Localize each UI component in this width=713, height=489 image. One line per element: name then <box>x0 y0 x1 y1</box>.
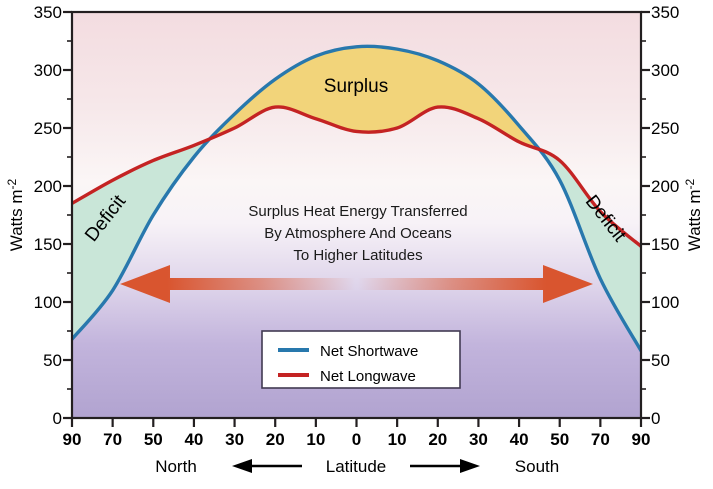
legend-label-net-shortwave: Net Shortwave <box>320 343 418 360</box>
legend: Net Shortwave Net Longwave <box>262 331 460 388</box>
ytick-label-right-200: 200 <box>651 177 679 196</box>
legend-label-net-longwave: Net Longwave <box>320 368 416 385</box>
y-axis-title-left: Watts m-2 <box>5 178 26 251</box>
y-axis-title-left-text: Watts m <box>7 189 26 251</box>
xtick-label: 70 <box>103 430 122 449</box>
annotation-line-3: To Higher Latitudes <box>293 247 422 264</box>
x-axis-tick-labels: 90705040302010010203040507090 <box>63 430 651 449</box>
xtick-label: 30 <box>225 430 244 449</box>
y-axis-title-left-exponent: -2 <box>5 178 19 189</box>
x-axis-label-row: North Latitude South <box>155 457 559 476</box>
xtick-label: 10 <box>306 430 325 449</box>
ytick-label-right-300: 300 <box>651 61 679 80</box>
arrow-left-small-icon <box>232 459 302 473</box>
xtick-label: 90 <box>63 430 82 449</box>
ytick-label-right-150: 150 <box>651 235 679 254</box>
ytick-label-200: 200 <box>34 177 62 196</box>
ytick-label-50: 50 <box>43 351 62 370</box>
ytick-label-100: 100 <box>34 293 62 312</box>
ytick-label-right-50: 50 <box>651 351 670 370</box>
xtick-label: 50 <box>144 430 163 449</box>
arrow-right-small-icon <box>410 459 480 473</box>
xtick-label: 20 <box>428 430 447 449</box>
ytick-label-0: 0 <box>53 409 62 428</box>
annotation-line-2: By Atmosphere And Oceans <box>264 225 452 242</box>
latitude-label: Latitude <box>326 457 387 476</box>
ytick-label-350: 350 <box>34 3 62 22</box>
y-axis-tick-labels-left: 350 300 250 200 150 100 50 0 <box>34 3 62 428</box>
xtick-label: 20 <box>266 430 285 449</box>
svg-text:Watts m-2: Watts m-2 <box>683 178 704 251</box>
north-label: North <box>155 457 197 476</box>
y-axis-title-right-text: Watts m <box>685 189 704 251</box>
annotation-line-1: Surplus Heat Energy Transferred <box>248 203 467 220</box>
ytick-label-right-250: 250 <box>651 119 679 138</box>
ytick-label-250: 250 <box>34 119 62 138</box>
south-label: South <box>515 457 559 476</box>
ytick-label-300: 300 <box>34 61 62 80</box>
xtick-label: 30 <box>469 430 488 449</box>
xtick-label: 10 <box>388 430 407 449</box>
xtick-label: 0 <box>352 430 361 449</box>
xtick-label: 90 <box>632 430 651 449</box>
ytick-label-right-350: 350 <box>651 3 679 22</box>
x-axis-ticks <box>72 418 641 427</box>
y-axis-tick-labels-right: 350 300 250 200 150 100 50 0 <box>651 3 679 428</box>
chart-canvas: 350 300 250 200 150 100 50 0 350 300 250… <box>0 0 713 489</box>
xtick-label: 50 <box>550 430 569 449</box>
ytick-label-right-100: 100 <box>651 293 679 312</box>
ytick-label-150: 150 <box>34 235 62 254</box>
y-axis-title-right-exponent: -2 <box>683 178 697 189</box>
xtick-label: 70 <box>591 430 610 449</box>
y-axis-title-right: Watts m-2 <box>683 178 704 251</box>
svg-text:Watts m-2: Watts m-2 <box>5 178 26 251</box>
xtick-label: 40 <box>184 430 203 449</box>
surplus-label: Surplus <box>324 76 388 97</box>
ytick-label-right-0: 0 <box>651 409 660 428</box>
radiation-balance-chart: 350 300 250 200 150 100 50 0 350 300 250… <box>0 0 713 489</box>
xtick-label: 40 <box>510 430 529 449</box>
